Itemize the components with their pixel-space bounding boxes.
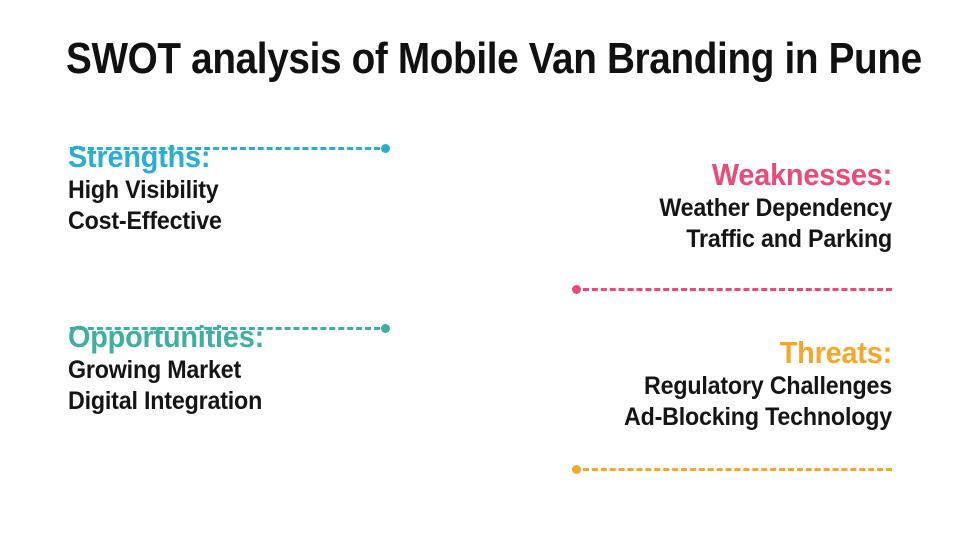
quadrant-weaknesses: Weaknesses: Weather Dependency Traffic a…: [552, 158, 892, 255]
accent-rule-threats: [572, 465, 892, 475]
quadrant-heading-opportunities: Opportunities:: [68, 320, 384, 355]
list-item: Weather Dependency: [576, 193, 892, 224]
quadrant-strengths: Strengths: High Visibility Cost-Effectiv…: [68, 140, 408, 237]
quadrant-items-threats: Regulatory Challenges Ad-Blocking Techno…: [552, 371, 892, 434]
list-item: Growing Market: [68, 355, 384, 386]
quadrant-heading-weaknesses: Weaknesses:: [576, 158, 892, 193]
quadrant-threats: Threats: Regulatory Challenges Ad-Blocki…: [552, 336, 892, 433]
accent-rule-weaknesses: [572, 285, 892, 295]
list-item: High Visibility: [68, 175, 384, 206]
list-item: Ad-Blocking Technology: [576, 402, 892, 433]
quadrant-opportunities: Opportunities: Growing Market Digital In…: [68, 320, 408, 417]
dashed-line-threats: [583, 468, 892, 471]
quadrant-items-weaknesses: Weather Dependency Traffic and Parking: [552, 193, 892, 256]
quadrant-items-opportunities: Growing Market Digital Integration: [68, 355, 408, 418]
list-item: Cost-Effective: [68, 206, 384, 237]
dashed-line-weaknesses: [583, 288, 892, 291]
quadrant-heading-threats: Threats:: [576, 336, 892, 371]
page-title: SWOT analysis of Mobile Van Branding in …: [66, 36, 823, 82]
quadrant-items-strengths: High Visibility Cost-Effective: [68, 175, 408, 238]
list-item: Regulatory Challenges: [576, 371, 892, 402]
quadrant-heading-strengths: Strengths:: [68, 140, 384, 175]
accent-dot-threats: [572, 465, 581, 474]
accent-dot-weaknesses: [572, 285, 581, 294]
swot-slide: SWOT analysis of Mobile Van Branding in …: [0, 0, 960, 540]
list-item: Traffic and Parking: [576, 224, 892, 255]
list-item: Digital Integration: [68, 386, 384, 417]
